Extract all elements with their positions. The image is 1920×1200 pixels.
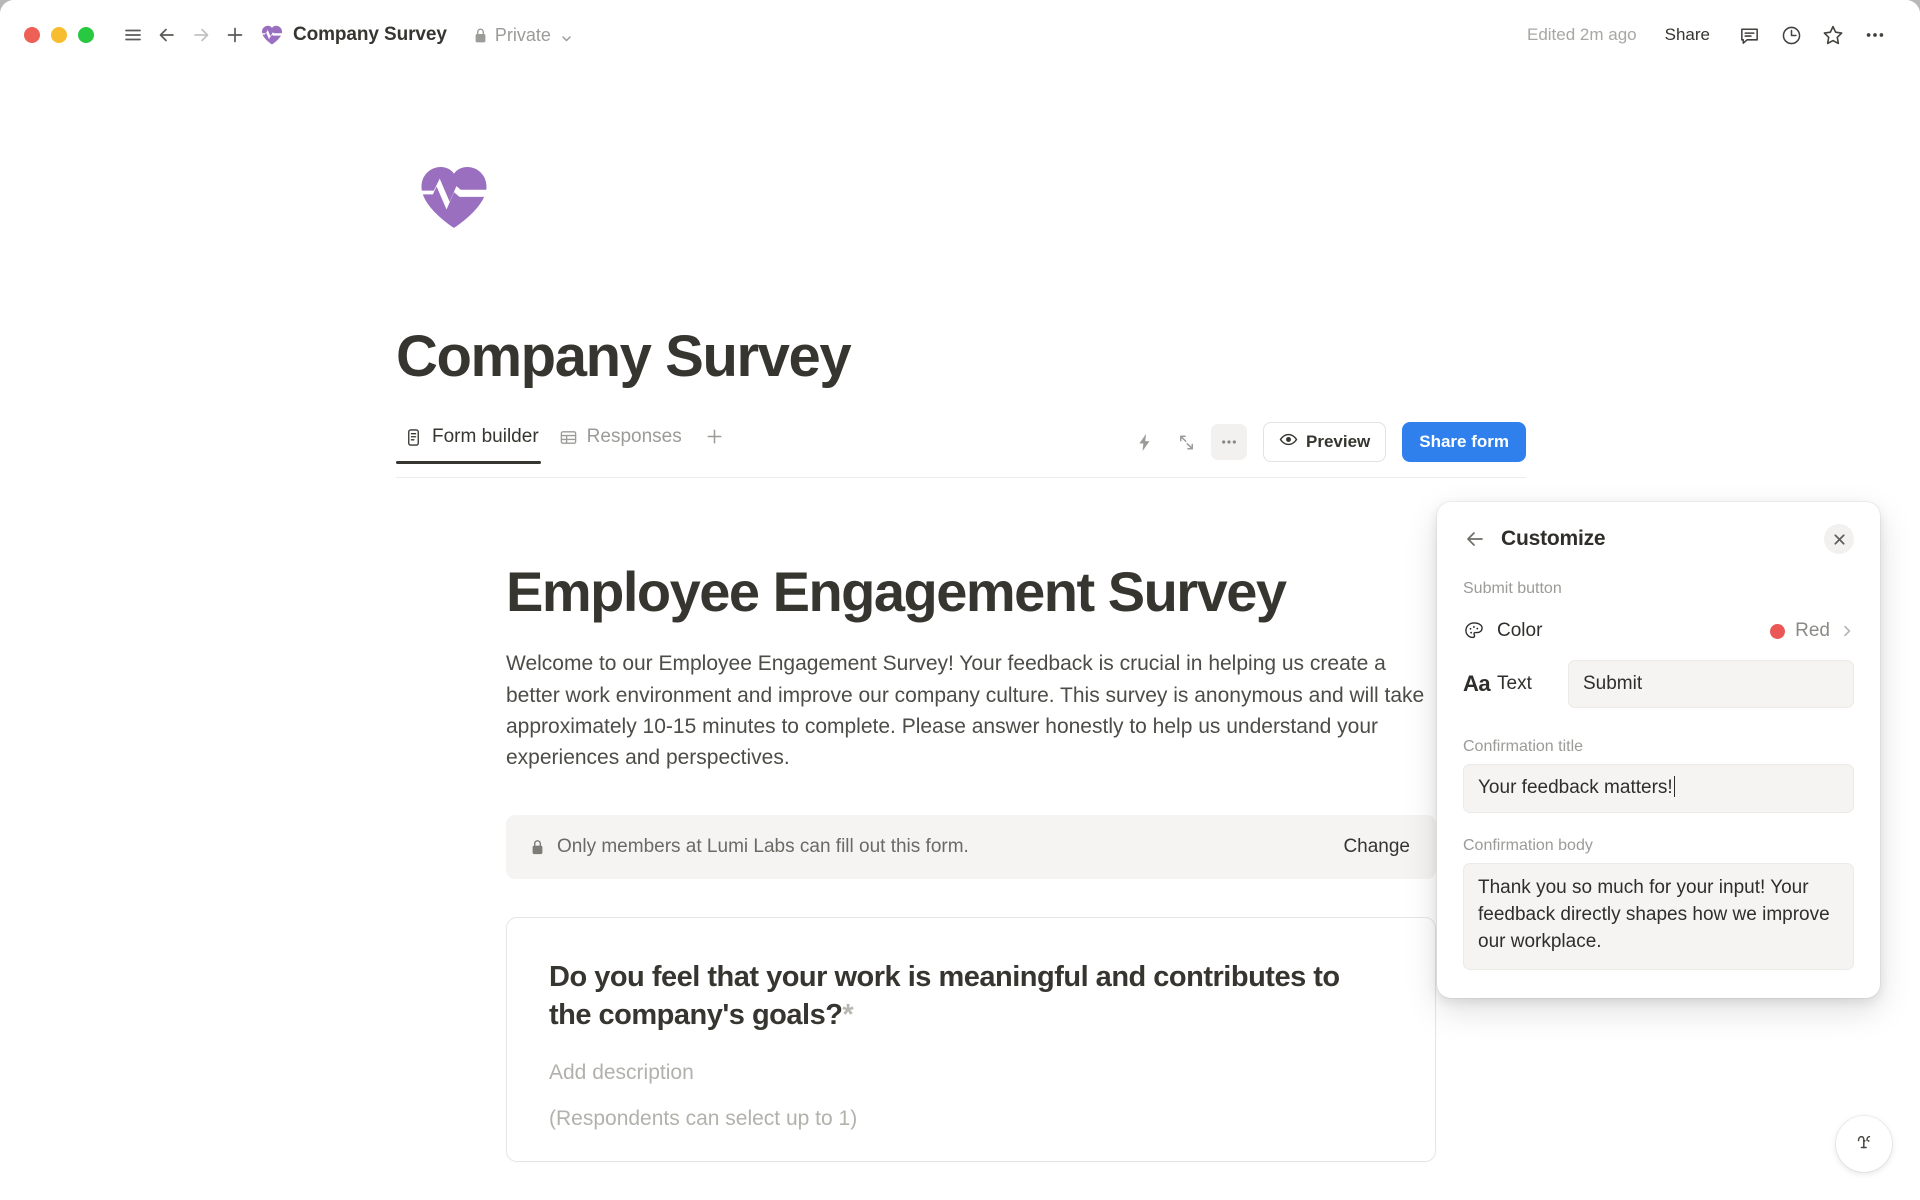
share-form-label: Share form <box>1419 432 1509 452</box>
question-title-text: Do you feel that your work is meaningful… <box>549 961 1340 1032</box>
heart-pulse-icon <box>260 23 284 47</box>
ai-face-icon <box>1850 1128 1878 1161</box>
question-description-placeholder[interactable]: Add description <box>549 1061 1393 1085</box>
privacy-selector[interactable]: Private <box>473 25 573 46</box>
preview-label: Preview <box>1306 432 1370 452</box>
tab-label: Form builder <box>432 426 539 448</box>
question-title[interactable]: Do you feel that your work is meaningful… <box>549 958 1349 1035</box>
minimize-window-button[interactable] <box>51 27 67 43</box>
table-grid-icon <box>559 428 578 447</box>
question-card[interactable]: Do you feel that your work is meaningful… <box>506 917 1436 1162</box>
submit-text-label: Text <box>1497 673 1532 695</box>
edited-status: Edited 2m ago <box>1527 25 1637 45</box>
page-cover-heart-pulse-icon[interactable] <box>415 158 493 236</box>
app-window: Company Survey Private Edited 2m ago Sha… <box>0 0 1920 1200</box>
permission-text: Only members at Lumi Labs can fill out t… <box>557 836 969 858</box>
close-window-button[interactable] <box>24 27 40 43</box>
submit-button-section-label: Submit button <box>1463 580 1854 598</box>
submit-color-row[interactable]: Color Red <box>1463 608 1854 654</box>
traffic-lights <box>24 27 94 43</box>
document-chip[interactable]: Company Survey <box>260 23 447 47</box>
expand-diagonal-icon[interactable] <box>1169 424 1205 460</box>
hamburger-icon[interactable] <box>116 18 150 52</box>
permission-left: Only members at Lumi Labs can fill out t… <box>530 836 969 858</box>
share-form-button[interactable]: Share form <box>1402 422 1526 462</box>
submit-text-row[interactable]: Aa Text Submit <box>1463 654 1854 714</box>
customize-panel-title: Customize <box>1501 527 1605 551</box>
titlebar-actions: Edited 2m ago Share <box>1527 16 1894 54</box>
comment-icon[interactable] <box>1730 16 1768 54</box>
customize-panel-header: Customize <box>1463 524 1854 554</box>
arrow-left-icon[interactable] <box>150 18 184 52</box>
add-tab-button[interactable] <box>694 422 735 463</box>
privacy-label: Private <box>495 25 551 46</box>
back-arrow-icon[interactable] <box>1463 527 1487 551</box>
title-bar: Company Survey Private Edited 2m ago Sha… <box>0 0 1920 70</box>
ellipsis-icon[interactable] <box>1856 16 1894 54</box>
tab-more-options-icon[interactable] <box>1211 424 1247 460</box>
submit-color-value-group: Red <box>1770 620 1854 642</box>
chevron-down-icon <box>560 29 573 42</box>
permission-banner: Only members at Lumi Labs can fill out t… <box>506 815 1436 879</box>
submit-text-input[interactable]: Submit <box>1568 660 1854 709</box>
lightning-bolt-icon[interactable] <box>1127 424 1163 460</box>
plus-icon[interactable] <box>218 18 252 52</box>
form-canvas: Employee Engagement Survey Welcome to ou… <box>396 478 1526 1200</box>
share-button[interactable]: Share <box>1655 19 1720 51</box>
text-caret <box>1674 776 1676 797</box>
customize-panel: Customize Submit button <box>1437 502 1880 998</box>
confirmation-body-label: Confirmation body <box>1463 837 1854 855</box>
submit-color-value: Red <box>1795 620 1830 642</box>
form-header: Employee Engagement Survey Welcome to ou… <box>396 478 1526 1162</box>
star-icon[interactable] <box>1814 16 1852 54</box>
aa-text-icon: Aa <box>1463 671 1493 697</box>
document-title: Company Survey <box>293 24 447 46</box>
page-title[interactable]: Company Survey <box>396 325 850 389</box>
chevron-right-icon <box>1840 624 1854 638</box>
preview-button[interactable]: Preview <box>1263 422 1386 462</box>
color-swatch <box>1770 624 1785 639</box>
tab-list: Form builder Responses <box>396 422 735 464</box>
tab-bar: Form builder Responses <box>396 422 1526 478</box>
maximize-window-button[interactable] <box>78 27 94 43</box>
tab-bar-actions: Preview Share form <box>1127 422 1526 462</box>
lock-icon <box>473 27 488 44</box>
required-marker: * <box>842 999 853 1031</box>
form-document-icon <box>404 428 423 447</box>
form-title[interactable]: Employee Engagement Survey <box>506 562 1436 622</box>
ai-assistant-button[interactable] <box>1836 1116 1892 1172</box>
permission-change-button[interactable]: Change <box>1343 836 1410 858</box>
confirmation-title-value: Your feedback matters! <box>1478 777 1673 798</box>
clock-history-icon[interactable] <box>1772 16 1810 54</box>
palette-icon <box>1463 620 1493 642</box>
tab-label: Responses <box>587 426 682 448</box>
confirmation-title-input[interactable]: Your feedback matters! <box>1463 764 1854 813</box>
tab-responses[interactable]: Responses <box>551 422 694 464</box>
tab-form-builder[interactable]: Form builder <box>396 422 551 464</box>
close-icon[interactable] <box>1824 524 1854 554</box>
confirmation-body-input[interactable]: Thank you so much for your input! Your f… <box>1463 863 1854 970</box>
eye-icon <box>1279 430 1298 454</box>
question-selection-hint: (Respondents can select up to 1) <box>549 1107 1393 1131</box>
arrow-right-icon[interactable] <box>184 18 218 52</box>
confirmation-title-label: Confirmation title <box>1463 738 1854 756</box>
page-body: Company Survey Form builder <box>0 70 1920 1200</box>
form-description[interactable]: Welcome to our Employee Engagement Surve… <box>506 648 1436 772</box>
submit-color-label: Color <box>1497 620 1542 642</box>
lock-icon <box>530 838 545 856</box>
permission-wrapper: Only members at Lumi Labs can fill out t… <box>506 815 1436 879</box>
